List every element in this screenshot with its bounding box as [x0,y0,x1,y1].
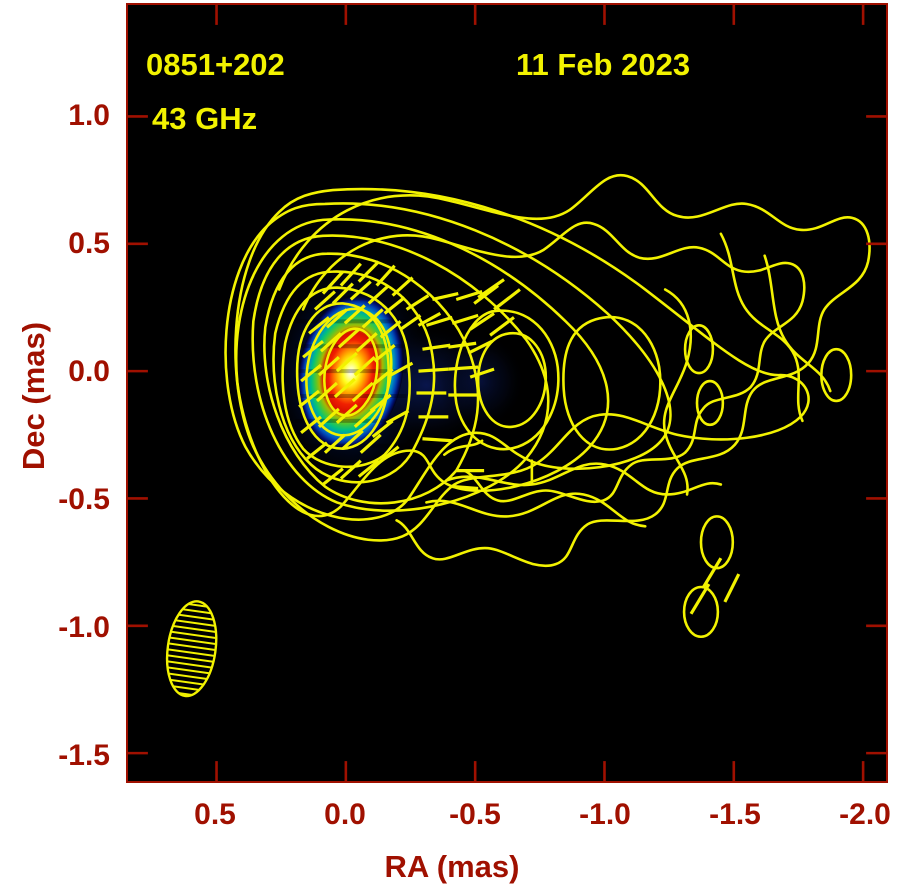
x-tick-label-5: -1.5 [675,798,795,832]
y-tick-label-5: -1.0 [0,611,110,645]
x-tick-label-6: -2.0 [805,798,904,832]
y-tick-label-1: 1.0 [0,99,110,133]
plot-area: 0851+202 43 GHz 11 Feb 2023 [126,3,888,783]
observation-date-label: 11 Feb 2023 [516,47,690,83]
vlbi-polarization-map: 1.0 0.5 0.0 -0.5 -1.0 -1.5 0.5 0.0 -0.5 … [0,0,904,891]
y-tick-label-2: 0.5 [0,227,110,261]
y-tick-label-6: -1.5 [0,739,110,773]
x-tick-label-1: 0.5 [155,798,275,832]
x-tick-label-3: -0.5 [415,798,535,832]
x-axis-label: RA (mas) [0,849,904,885]
x-tick-label-4: -1.0 [545,798,665,832]
y-axis-label: Dec (mas) [16,296,52,496]
frequency-label: 43 GHz [152,101,257,137]
source-name-label: 0851+202 [146,47,285,83]
x-tick-label-2: 0.0 [285,798,405,832]
